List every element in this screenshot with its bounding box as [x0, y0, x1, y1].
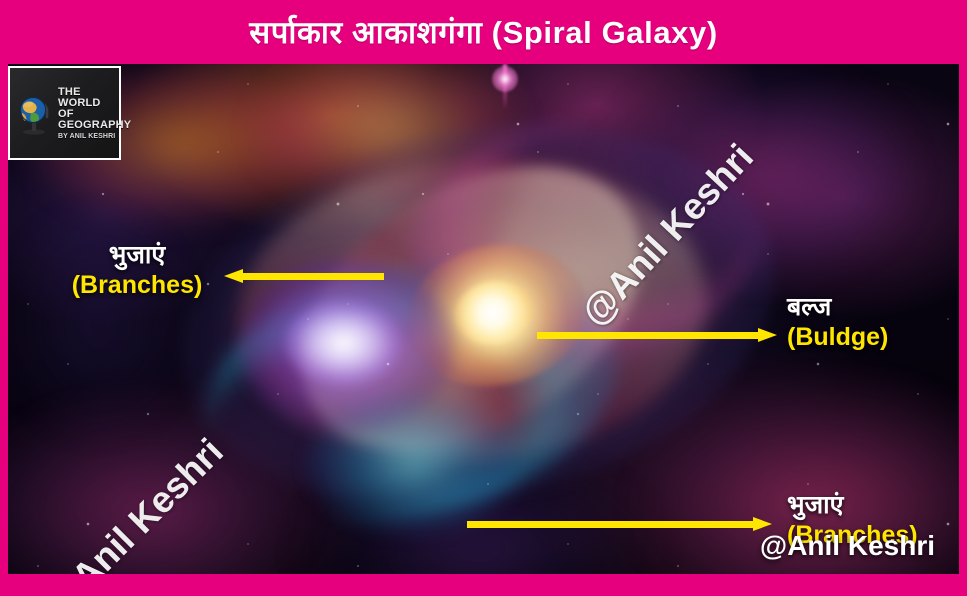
- label-bulge-english: (Buldge): [787, 324, 888, 350]
- label-branches-left-english: (Branches): [52, 272, 222, 298]
- page-title: सर्पाकार आकाशगंगा (Spiral Galaxy): [249, 11, 718, 53]
- arrow-bulge: [537, 328, 777, 342]
- arrow-shaft: [240, 273, 384, 280]
- channel-logo-badge: THE WORLD OF GEOGRAPHY BY ANIL KESHRI: [8, 66, 121, 160]
- logo-line-of: OF: [58, 109, 131, 120]
- logo-line-world: WORLD: [58, 98, 131, 109]
- title-bar: सर्पाकार आकाशगंगा (Spiral Galaxy): [0, 0, 967, 64]
- label-branches-left: भुजाएं (Branches): [52, 242, 222, 299]
- purple-knot-core: [286, 302, 401, 384]
- arrow-branches-bottom: [467, 517, 772, 531]
- logo-text-block: THE WORLD OF GEOGRAPHY BY ANIL KESHRI: [58, 87, 131, 140]
- galaxy-illustration: भुजाएं (Branches) बल्ज (Buldge) भुजाएं (…: [8, 64, 959, 574]
- logo-line-the: THE: [58, 87, 131, 98]
- globe-icon: [13, 89, 55, 137]
- poster-frame: सर्पाकार आकाशगंगा (Spiral Galaxy): [0, 0, 967, 596]
- galaxy-core: [448, 274, 537, 351]
- arrow-shaft: [467, 521, 756, 528]
- arrow-head-right-icon: [753, 517, 772, 531]
- watermark-corner: @Anil Keshri: [760, 530, 935, 562]
- cyan-star-cluster: [308, 394, 518, 534]
- arrow-head-right-icon: [758, 328, 777, 342]
- label-branches-left-hindi: भुजाएं: [52, 242, 222, 268]
- label-branches-bottom-hindi: भुजाएं: [787, 492, 918, 518]
- label-bulge-hindi: बल्ज: [787, 294, 888, 320]
- label-bulge: बल्ज (Buldge): [787, 294, 888, 351]
- arrow-shaft: [537, 332, 761, 339]
- logo-line-geography: GEOGRAPHY: [58, 120, 131, 131]
- pink-star-flare-core: [492, 66, 518, 92]
- arrow-branches-left: [224, 269, 384, 283]
- logo-line-byline: BY ANIL KESHRI: [58, 133, 131, 140]
